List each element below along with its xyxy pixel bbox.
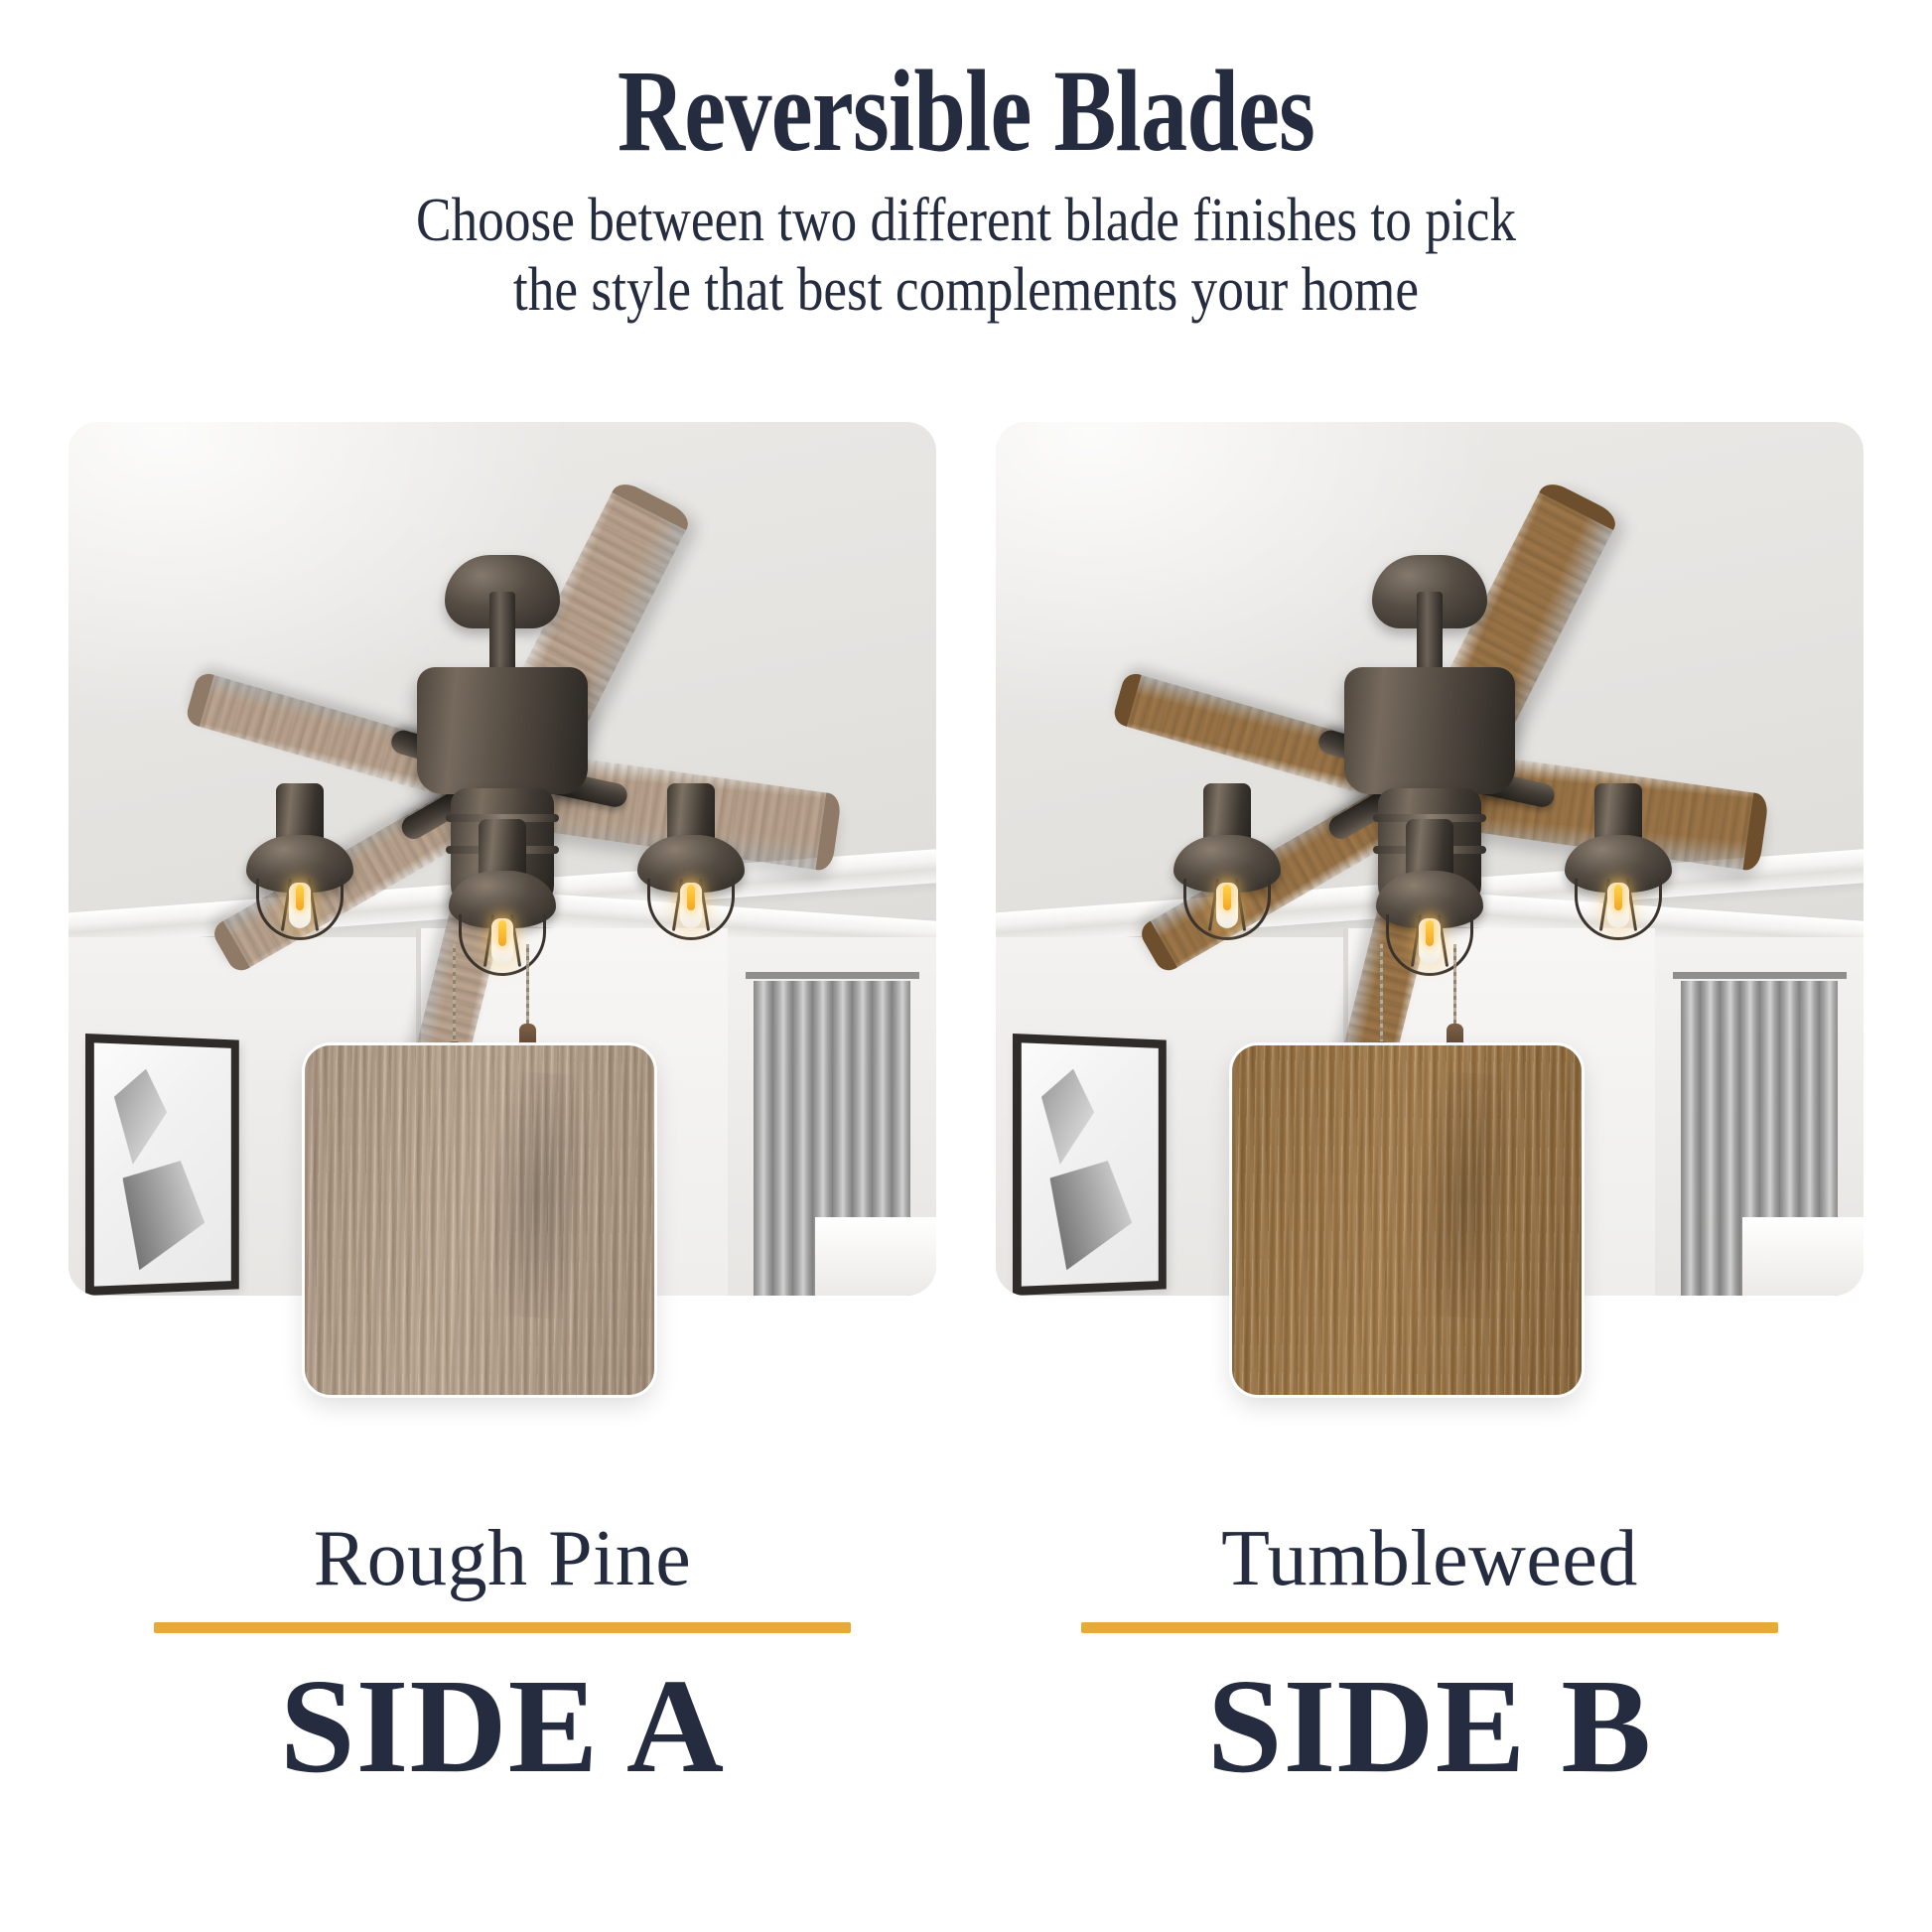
- finish-name-side-b: Tumbleweed: [996, 1519, 1863, 1598]
- framed-artwork: [1013, 1034, 1167, 1296]
- fan-light-fixture: [1376, 819, 1483, 968]
- framed-artwork: [85, 1034, 239, 1296]
- label-column-side-a: Rough Pine SIDE A: [69, 1519, 936, 1798]
- gold-divider: [154, 1622, 851, 1633]
- artwork-brushstroke: [123, 1155, 206, 1271]
- gold-divider: [1081, 1622, 1778, 1633]
- bulb-filament: [296, 885, 304, 910]
- rough-pine-swatch: [305, 1045, 654, 1395]
- ceiling-fan-side-a: [125, 527, 880, 994]
- tumbleweed-swatch: [1232, 1045, 1582, 1395]
- baseboard: [1742, 1217, 1863, 1296]
- fan-light-fixture: [449, 819, 556, 968]
- bulb-filament: [1426, 920, 1434, 946]
- side-label-b: SIDE B: [996, 1655, 1863, 1798]
- bulb-filament: [498, 920, 506, 946]
- pull-chain: [453, 944, 456, 1043]
- ceiling-fan-side-b: [1052, 527, 1807, 994]
- swatch-knot: [1399, 1069, 1535, 1321]
- fan-motor-housing: [1344, 667, 1515, 794]
- side-label-a: SIDE A: [69, 1655, 936, 1798]
- fan-light-fixture: [1565, 783, 1672, 932]
- panel-side-b: [996, 422, 1863, 1296]
- fan-light-fixture: [637, 783, 745, 932]
- finish-labels: Rough Pine SIDE A Tumbleweed SIDE B: [0, 1519, 1932, 1798]
- finish-name-side-a: Rough Pine: [69, 1519, 936, 1598]
- comparison-panels: [0, 422, 1932, 1296]
- swatch-knot: [472, 1069, 608, 1321]
- page-subtitle: Choose between two different blade finis…: [135, 187, 1797, 325]
- subtitle-line-2: the style that best complements your hom…: [135, 256, 1797, 325]
- artwork-brushstroke: [114, 1068, 167, 1165]
- page-title: Reversible Blades: [194, 52, 1739, 171]
- pull-chain: [1453, 944, 1456, 1026]
- pull-chain: [526, 944, 529, 1026]
- label-column-side-b: Tumbleweed SIDE B: [996, 1519, 1863, 1798]
- bulb-filament: [687, 885, 695, 910]
- fan-motor-housing: [417, 667, 588, 794]
- artwork-brushstroke: [1050, 1155, 1133, 1271]
- bulb-filament: [1614, 885, 1622, 910]
- baseboard: [815, 1217, 936, 1296]
- header: Reversible Blades Choose between two dif…: [0, 0, 1932, 325]
- pull-chain: [1380, 944, 1383, 1043]
- bulb-filament: [1223, 885, 1231, 910]
- artwork-brushstroke: [1041, 1068, 1094, 1165]
- fan-light-fixture: [246, 783, 353, 932]
- panel-side-a: [69, 422, 936, 1296]
- fan-light-fixture: [1173, 783, 1281, 932]
- subtitle-line-1: Choose between two different blade finis…: [135, 187, 1797, 255]
